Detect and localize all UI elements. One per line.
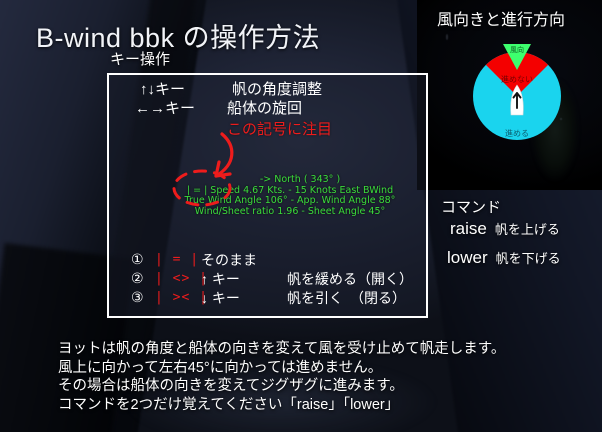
list-index: ① [131, 251, 155, 268]
list-desc: 帆を緩める（開く） [287, 269, 413, 289]
key-label-updown: ↑↓キー [140, 78, 232, 99]
telemetry-sheet-line: Wind/Sheet ratio 1.96 - Sheet Angle 45° [155, 207, 425, 218]
slide-canvas: B-wind bbk の操作方法 キー操作 ↑↓キー帆の角度調整 ←→キー船体の… [0, 0, 602, 432]
background-speck [446, 34, 448, 40]
symbol-legend-list: ① | = | そのまま ② | <> | ↑ キー 帆を緩める（開く） ③ |… [131, 250, 421, 307]
key-action-hull-turn: 船体の旋回 [227, 100, 302, 117]
description-line-4: コマンドを2つだけ覚えてください「raise」「lower」 [58, 396, 505, 415]
compass-title: 風向きと進行方向 [437, 6, 565, 30]
commands-title: コマンド [441, 196, 501, 217]
list-key: ↑ キー [201, 269, 287, 289]
no-go-label: 進めない [501, 75, 533, 84]
page-title: B-wind bbk の操作方法 [36, 16, 320, 55]
list-index: ② [131, 270, 155, 287]
key-action-sail-angle: 帆の角度調整 [232, 81, 322, 98]
description-line-1: ヨットは帆の角度と船体の向きを変えて風を受け止めて帆走します。 [58, 340, 505, 359]
list-key: ↓ キー [201, 288, 287, 308]
list-symbol: | <> | [155, 271, 201, 286]
key-row-hull-turn: ←→キー船体の旋回 [135, 97, 302, 118]
wind-direction-diagram: 風向 進めない 進める [465, 30, 570, 142]
wind-label: 風向 [510, 45, 524, 54]
list-symbol: | = | [155, 252, 201, 267]
command-raise-desc: 帆を上げる [495, 222, 560, 237]
list-item: ③ | >< | ↓ キー 帆を引く （閉る） [131, 288, 421, 307]
key-operation-label: キー操作 [110, 48, 170, 69]
command-lower-name: lower [447, 248, 488, 267]
description-line-3: その場合は船体の向きを変えてジグザグに進みます。 [58, 377, 505, 396]
attention-note: この記号に注目 [227, 118, 332, 139]
description-paragraph: ヨットは帆の角度と船体の向きを変えて風を受け止めて帆走します。 風上に向かって左… [58, 340, 505, 414]
list-symbol: | >< | [155, 290, 201, 305]
list-key: そのまま [201, 250, 287, 270]
list-item: ② | <> | ↑ キー 帆を緩める（開く） [131, 269, 421, 288]
go-label: 進める [505, 129, 529, 138]
telemetry-heading-line: -> North ( 343° ) [155, 175, 425, 186]
list-desc: 帆を引く （閉る） [287, 288, 406, 308]
key-row-sail-angle: ↑↓キー帆の角度調整 [140, 78, 322, 99]
key-label-leftright: ←→キー [135, 97, 227, 118]
telemetry-readout: -> North ( 343° ) | = | Speed 4.67 Kts. … [155, 175, 425, 217]
description-line-2: 風上に向かって左右45°に向かっては進めません。 [58, 359, 505, 378]
list-index: ③ [131, 289, 155, 306]
command-lower-desc: 帆を下げる [496, 251, 561, 266]
list-item: ① | = | そのまま [131, 250, 421, 269]
command-lower: lower帆を下げる [447, 248, 561, 268]
command-raise-name: raise [450, 219, 487, 238]
command-raise: raise帆を上げる [450, 219, 560, 239]
